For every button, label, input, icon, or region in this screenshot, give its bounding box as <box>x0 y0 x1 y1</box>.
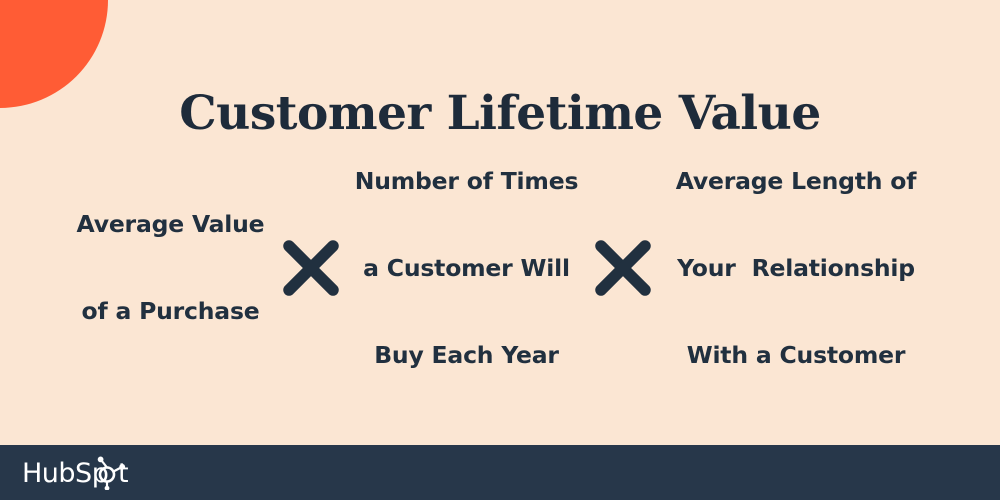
svg-text:t: t <box>118 458 128 489</box>
formula-term-line: Your Relationship <box>654 254 939 283</box>
formula-term-line: Buy Each Year <box>342 341 592 370</box>
formula-term-line: Average Value <box>62 210 280 239</box>
formula-term-line: Average Length of <box>654 167 939 196</box>
footer-bar: HubSp t <box>0 445 1000 500</box>
formula-term-average-value-of-a-purchase: Average Value of a Purchase <box>62 152 280 384</box>
formula-term-number-of-times-a-customer-will-buy-each-year: Number of Times a Customer Will Buy Each… <box>342 109 592 428</box>
formula-term-line: a Customer Will <box>342 254 592 283</box>
multiply-icon <box>280 240 342 296</box>
formula-term-line: of a Purchase <box>62 297 280 326</box>
formula-term-line: Number of Times <box>342 167 592 196</box>
formula-term-line: With a Customer <box>654 341 939 370</box>
multiply-icon <box>592 240 654 296</box>
formula-row: Average Value of a Purchase Number of Ti… <box>0 218 1000 318</box>
hubspot-logo: HubSp t <box>22 454 148 492</box>
svg-text:HubSp: HubSp <box>22 458 108 489</box>
infographic-canvas: Customer Lifetime Value Average Value of… <box>0 0 1000 500</box>
formula-term-average-length-of-your-relationship-with-a-customer: Average Length of Your Relationship With… <box>654 109 939 428</box>
